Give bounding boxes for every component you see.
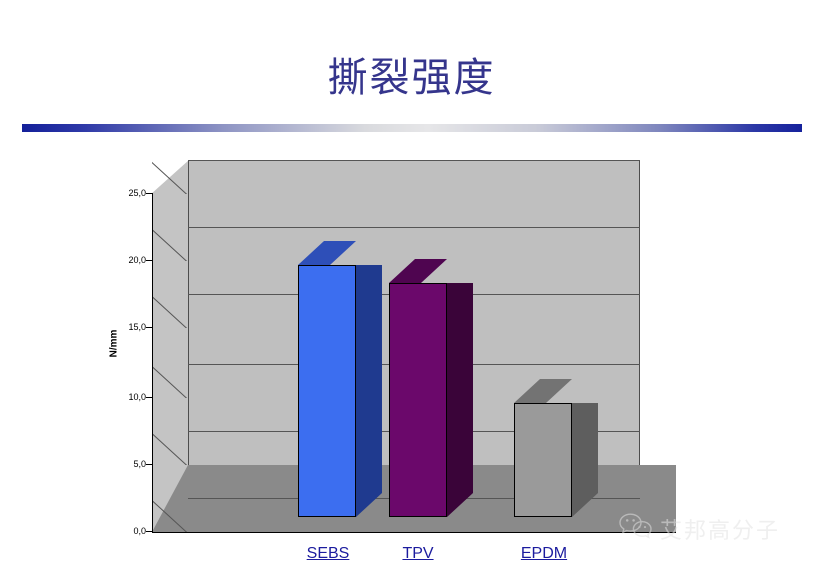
bar-epdm-front <box>514 403 572 517</box>
category-label-tpv: TPV <box>382 545 454 563</box>
title-divider <box>22 124 802 132</box>
y-tick-15 <box>146 327 153 328</box>
gridline-side-15 <box>152 294 189 328</box>
gridline-side-0 <box>152 498 189 532</box>
watermark: 艾邦高分子 <box>618 512 780 545</box>
y-tick-label-25: 25,0 <box>102 188 146 198</box>
gridline-20 <box>188 227 640 228</box>
wechat-icon <box>618 512 652 545</box>
gridline-side-10 <box>152 364 189 398</box>
gridline-25 <box>188 160 640 161</box>
gridline-side-5 <box>152 431 189 465</box>
bar-sebs-side <box>356 265 382 517</box>
y-axis-title: N/mm <box>108 330 119 358</box>
page-title: 撕裂强度 <box>0 52 823 104</box>
y-axis-line <box>152 193 153 532</box>
x-axis-line <box>152 532 676 533</box>
y-tick-25 <box>146 193 153 194</box>
y-tick-20 <box>146 260 153 261</box>
gridline-side-20 <box>152 227 189 261</box>
y-tick-10 <box>146 397 153 398</box>
bar-tpv <box>389 283 447 517</box>
category-label-sebs: SEBS <box>288 545 368 563</box>
y-tick-label-0: 0,0 <box>102 526 146 536</box>
y-tick-label-5: 5,0 <box>102 459 146 469</box>
y-tick-label-20: 20,0 <box>102 255 146 265</box>
y-tick-5 <box>146 464 153 465</box>
bar-tpv-side <box>447 283 473 517</box>
bar-sebs <box>298 265 356 517</box>
watermark-text: 艾邦高分子 <box>660 513 780 545</box>
bar-tpv-front <box>389 283 447 517</box>
y-tick-0 <box>146 531 153 532</box>
y-tick-label-10: 10,0 <box>102 392 146 402</box>
bar-sebs-front <box>298 265 356 517</box>
bar-epdm <box>514 403 572 517</box>
gridline-side-25 <box>152 160 189 194</box>
category-label-epdm: EPDM <box>502 545 586 563</box>
bar-chart-3d: 25,0 20,0 15,0 10,0 5,0 0,0 N/mm SEBS TP… <box>110 150 670 550</box>
